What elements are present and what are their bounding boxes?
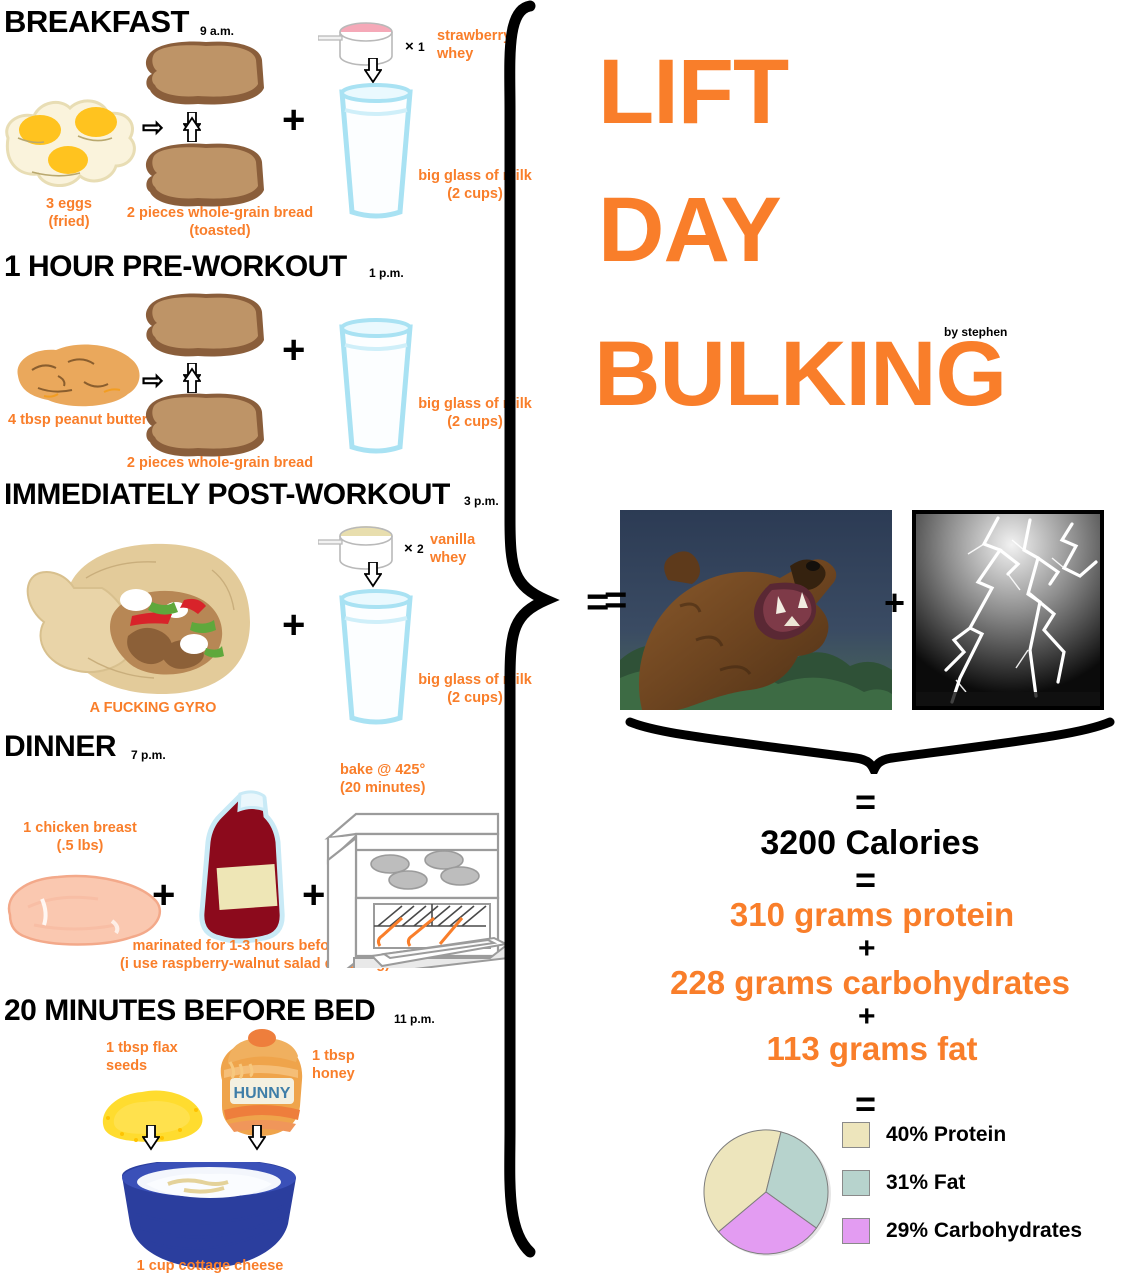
scoop-multiplier-2: × 2 bbox=[404, 540, 424, 557]
plus-operator-2: + bbox=[282, 330, 305, 370]
label-bread-2: 2 pieces whole-grain bread bbox=[110, 455, 330, 473]
equals-operator-4: = bbox=[855, 862, 876, 898]
dressing-bottle-illustration bbox=[196, 790, 306, 950]
label-oven: bake @ 425°(20 minutes) bbox=[340, 762, 425, 797]
legend-swatch-fat bbox=[842, 1170, 870, 1196]
legend-swatch-protein bbox=[842, 1122, 870, 1148]
times-symbol-1: × bbox=[405, 38, 414, 55]
label-chicken: 1 chicken breast(.5 lbs) bbox=[0, 820, 160, 855]
meal-time-breakfast: 9 a.m. bbox=[200, 24, 234, 38]
scoop-multiplier-1: × 1 bbox=[405, 38, 425, 55]
peanut-butter-blob-illustration bbox=[8, 330, 148, 420]
meal-time-dinner: 7 p.m. bbox=[131, 748, 166, 762]
plus-operator-6: + bbox=[884, 585, 905, 621]
plus-operator-7: + bbox=[858, 934, 876, 964]
label-cottage-cheese: 1 cup cottage cheese bbox=[100, 1258, 320, 1276]
toast-slice-top-2 bbox=[140, 290, 270, 362]
label-honey: 1 tbsphoney bbox=[312, 1048, 355, 1083]
large-brace-icon bbox=[488, 0, 588, 1260]
label-peanut-butter: 4 tbsp peanut butter bbox=[8, 412, 147, 430]
total-fat: 113 grams fat bbox=[600, 1030, 1144, 1068]
equals-operator-3: = bbox=[855, 784, 876, 820]
honey-jar-illustration: HUNNY bbox=[206, 1022, 316, 1140]
toast-slice-bottom-1 bbox=[140, 140, 270, 212]
legend-row-carbs: 29% Carbohydrates bbox=[842, 1218, 1082, 1244]
roaring-bear-photo bbox=[620, 510, 892, 710]
legend-row-protein: 40% Protein bbox=[842, 1122, 1006, 1148]
label-whey-2: vanillawhey bbox=[430, 532, 475, 567]
meal-heading-preworkout: 1 HOUR PRE-WORKOUT bbox=[4, 250, 347, 284]
gyro-illustration bbox=[16, 518, 266, 708]
scoop-count-1: 1 bbox=[418, 40, 425, 54]
meal-heading-dinner: DINNER bbox=[4, 730, 116, 764]
meal-time-preworkout: 1 p.m. bbox=[369, 266, 404, 280]
whey-scoop-vanilla bbox=[318, 522, 408, 584]
arrow-down-icon-4 bbox=[364, 562, 382, 588]
scoop-count-2: 2 bbox=[417, 542, 424, 556]
legend-label-carbs: 29% Carbohydrates bbox=[886, 1219, 1082, 1243]
total-calories: 3200 Calories bbox=[620, 824, 1120, 863]
arrow-down-icon-5 bbox=[142, 1125, 160, 1151]
milk-glass-2 bbox=[330, 315, 422, 455]
plus-operator-8: + bbox=[858, 1002, 876, 1032]
lightning-photo bbox=[912, 510, 1104, 710]
whey-scoop-strawberry bbox=[318, 18, 408, 80]
meal-time-bed: 11 p.m. bbox=[394, 1012, 435, 1026]
arrow-right-icon-1: ⇨ bbox=[142, 112, 164, 143]
meal-heading-postworkout: IMMEDIATELY POST-WORKOUT bbox=[4, 478, 450, 512]
plus-operator-4: + bbox=[152, 875, 175, 915]
equals-operator-2: = bbox=[604, 580, 627, 620]
arrow-up-icon-1 bbox=[183, 116, 201, 142]
toast-slice-top-1 bbox=[140, 38, 270, 110]
title-line-1: LIFT bbox=[598, 52, 788, 133]
plus-operator-1: + bbox=[282, 100, 305, 140]
total-protein: 310 grams protein bbox=[600, 896, 1144, 934]
macro-pie-chart bbox=[680, 1112, 860, 1272]
plus-operator-3: + bbox=[282, 605, 305, 645]
meal-heading-breakfast: BREAKFAST bbox=[4, 4, 189, 40]
title-line-3: BULKING bbox=[594, 334, 1006, 415]
times-symbol-2: × bbox=[404, 540, 413, 557]
label-bread-1: 2 pieces whole-grain bread(toasted) bbox=[110, 205, 330, 240]
meal-heading-bed: 20 MINUTES BEFORE BED bbox=[4, 994, 375, 1028]
fried-eggs-illustration bbox=[0, 80, 150, 205]
legend-row-fat: 31% Fat bbox=[842, 1170, 965, 1196]
label-eggs: 3 eggs(fried) bbox=[24, 196, 114, 231]
label-gyro: A FUCKING GYRO bbox=[58, 700, 248, 718]
milk-glass-3 bbox=[330, 586, 422, 731]
honey-jar-label: HUNNY bbox=[234, 1085, 291, 1102]
total-carbs: 228 grams carbohydrates bbox=[596, 964, 1144, 1002]
legend-label-fat: 31% Fat bbox=[886, 1171, 965, 1195]
arrow-down-icon-6 bbox=[248, 1125, 266, 1151]
title-line-2: DAY bbox=[598, 190, 781, 271]
arrow-up-icon-2 bbox=[183, 367, 201, 393]
bottom-brace-icon bbox=[620, 712, 1120, 774]
label-flax: 1 tbsp flaxseeds bbox=[106, 1040, 178, 1075]
legend-label-protein: 40% Protein bbox=[886, 1123, 1006, 1147]
legend-swatch-carbs bbox=[842, 1218, 870, 1244]
toast-slice-bottom-2 bbox=[140, 390, 270, 462]
